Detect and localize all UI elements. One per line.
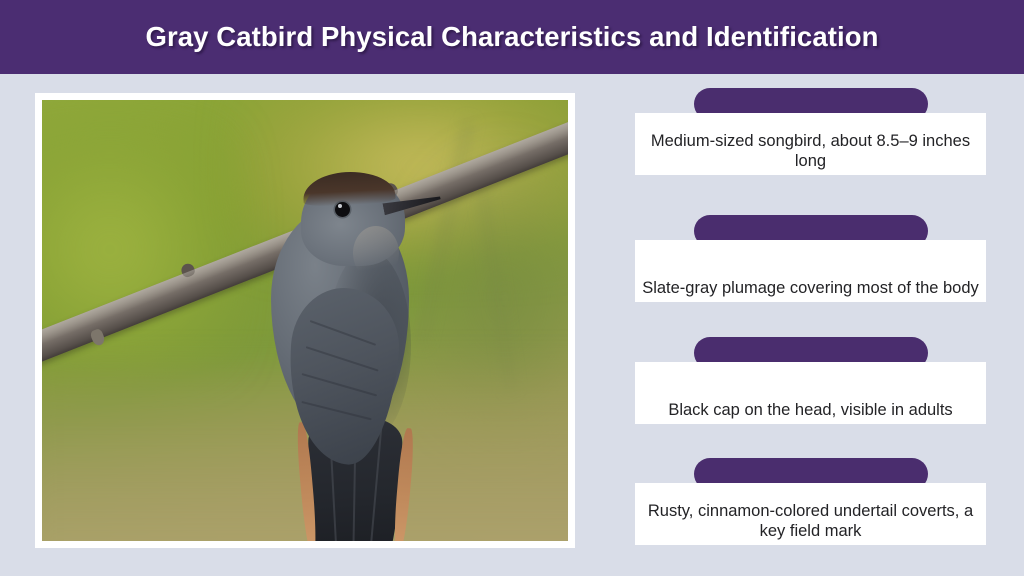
fact-card-text: Slate-gray plumage covering most of the …	[635, 278, 986, 298]
bird-black-cap	[302, 170, 396, 208]
fact-card-body: Black cap on the head, visible in adults	[635, 362, 986, 424]
slide-root: Gray Catbird Physical Characteristics an…	[0, 0, 1024, 576]
wing-feather-line	[310, 320, 376, 345]
wing-feather-line	[302, 373, 377, 396]
photo-frame	[35, 93, 575, 548]
fact-card-body: Slate-gray plumage covering most of the …	[635, 240, 986, 302]
fact-card-text: Black cap on the head, visible in adults	[635, 400, 986, 420]
fact-card-text: Rusty, cinnamon-colored undertail covert…	[635, 501, 986, 541]
bird-throat	[353, 226, 399, 280]
bird-eye-glint	[338, 204, 342, 208]
wing-feather-line	[301, 401, 371, 420]
fact-card-body: Medium-sized songbird, about 8.5–9 inche…	[635, 113, 986, 175]
catbird-photo	[42, 100, 568, 541]
fact-card-body: Rusty, cinnamon-colored undertail covert…	[635, 483, 986, 545]
slide-header-bar: Gray Catbird Physical Characteristics an…	[0, 0, 1024, 74]
gray-catbird	[257, 160, 467, 520]
fact-card-text: Medium-sized songbird, about 8.5–9 inche…	[635, 131, 986, 171]
page-title: Gray Catbird Physical Characteristics an…	[145, 21, 878, 53]
wing-feather-line	[306, 346, 379, 371]
